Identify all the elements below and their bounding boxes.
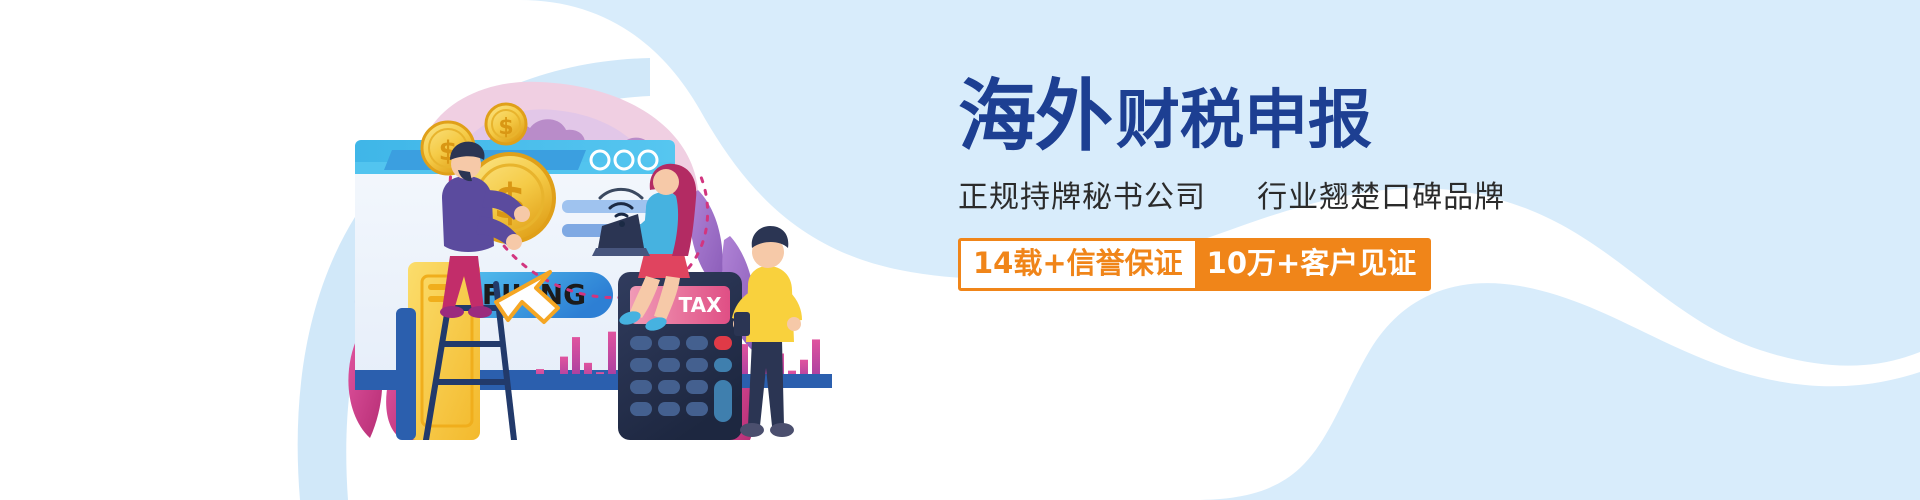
subheadline-left: 正规持牌秘书公司 bbox=[958, 180, 1206, 215]
headline: 海外 财税申报 bbox=[958, 78, 1598, 156]
copy-block: 海外 财税申报 正规持牌秘书公司 行业翘楚口碑品牌 14载+信誉保证 10万+客… bbox=[958, 78, 1598, 291]
calculator-display-label: TAX bbox=[679, 293, 723, 317]
headline-primary: 海外 bbox=[958, 78, 1112, 156]
badge-group: 14载+信誉保证 10万+客户见证 bbox=[958, 238, 1431, 291]
marketing-banner: FILING $ $ bbox=[0, 0, 1920, 500]
subheadline-right: 行业翘楚口碑品牌 bbox=[1257, 180, 1505, 215]
hero-illustration: FILING $ $ bbox=[300, 40, 940, 440]
headline-secondary: 财税申报 bbox=[1116, 89, 1372, 156]
coin-small-top: $ bbox=[486, 104, 526, 144]
subheadline: 正规持牌秘书公司 行业翘楚口碑品牌 bbox=[958, 172, 1598, 216]
svg-text:$: $ bbox=[498, 115, 513, 140]
badge-credibility: 14载+信誉保证 bbox=[961, 241, 1195, 288]
badge-customers: 10万+客户见证 bbox=[1195, 241, 1429, 288]
